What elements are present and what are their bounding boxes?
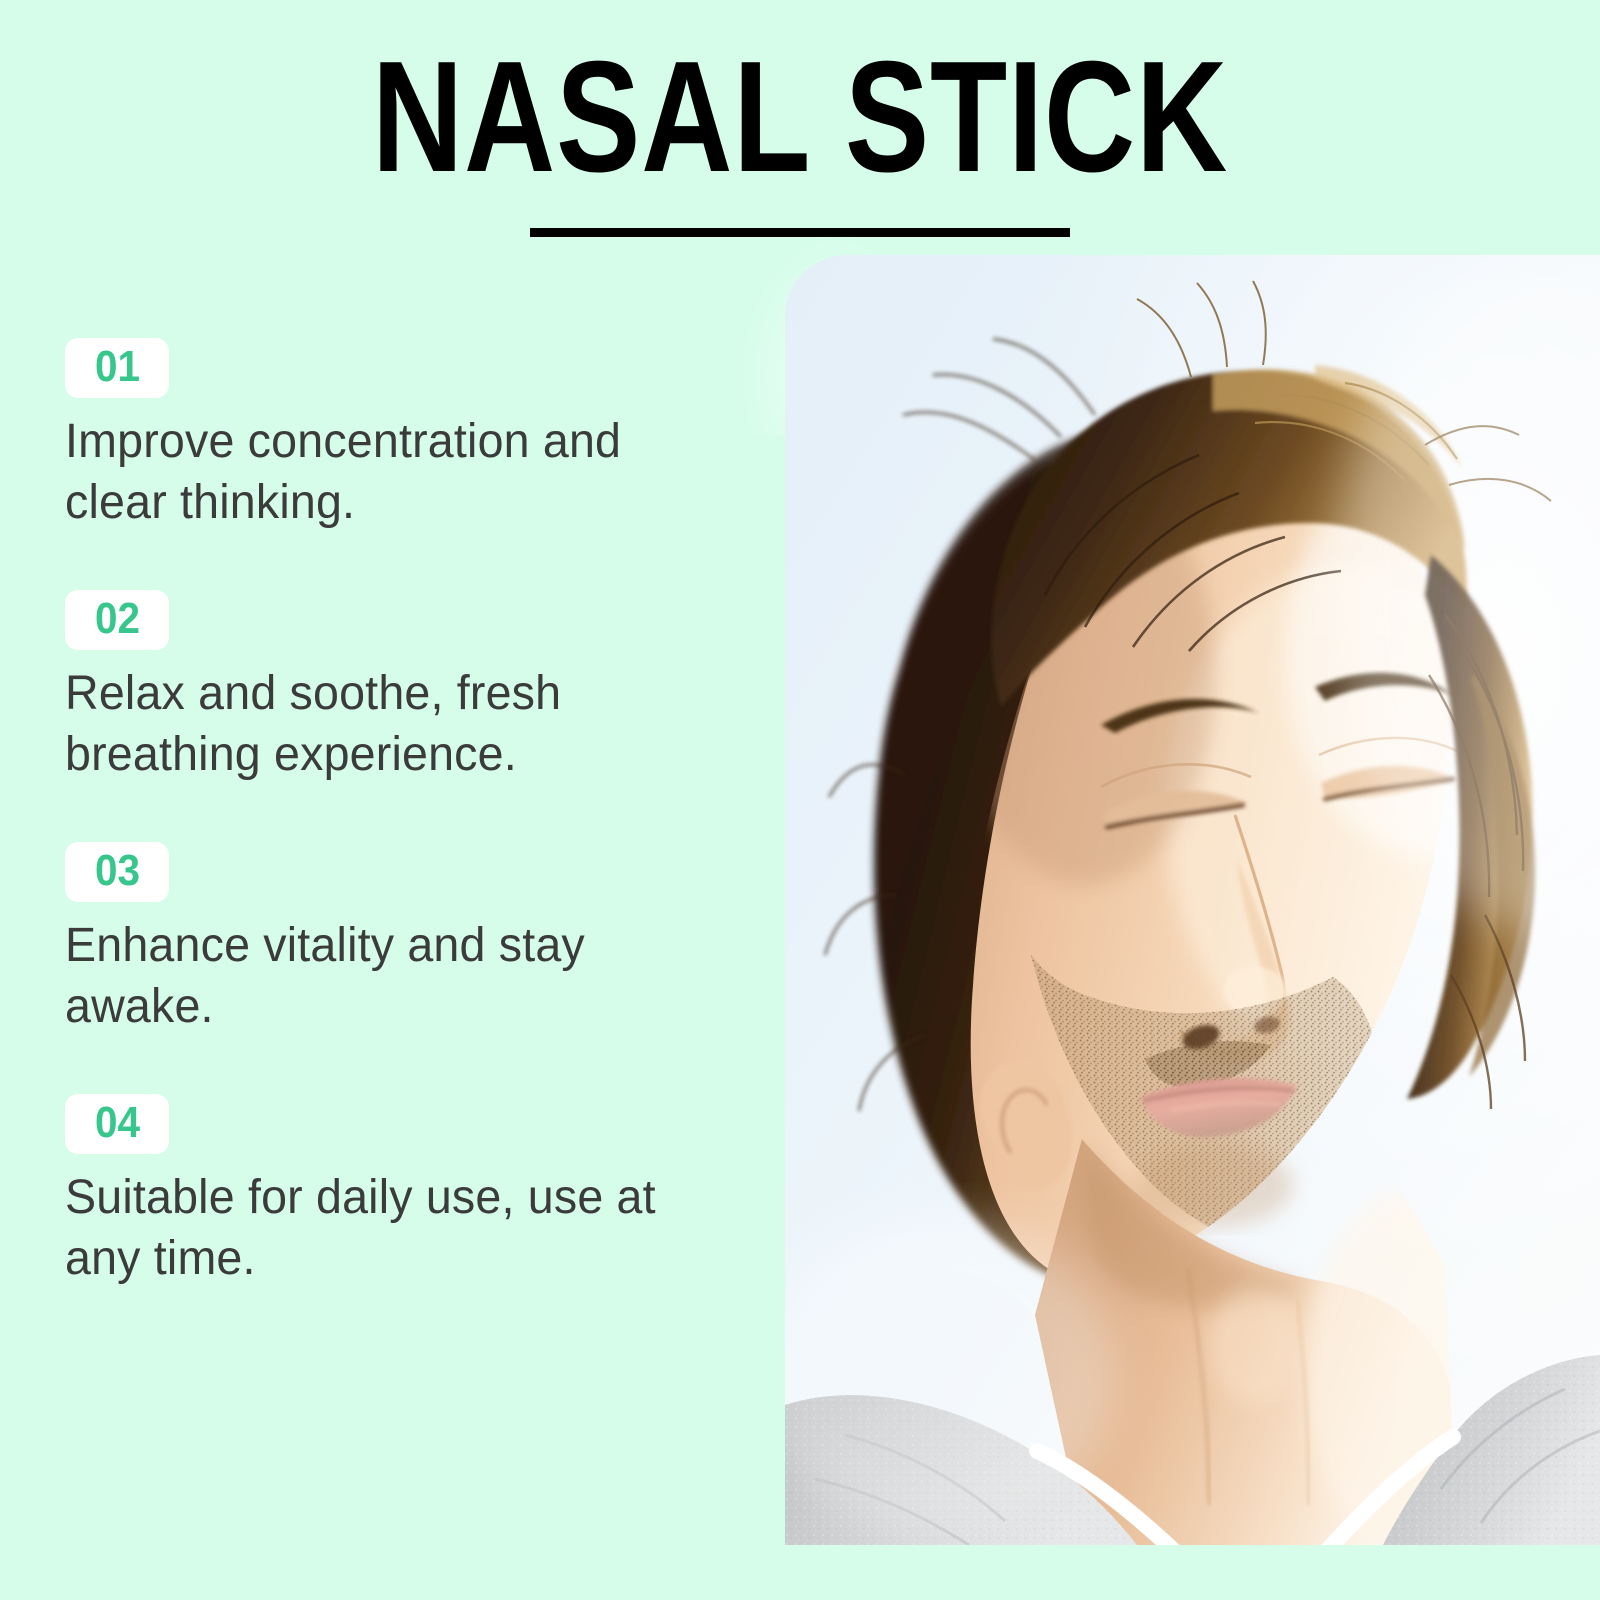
title-block: NASAL STICK bbox=[0, 38, 1600, 237]
feature-description: Enhance vitality and stay awake. bbox=[65, 916, 671, 1038]
feature-number: 01 bbox=[94, 345, 139, 389]
list-item: 01 Improve concentration and clear think… bbox=[65, 338, 705, 534]
feature-list: 01 Improve concentration and clear think… bbox=[65, 338, 705, 1290]
feature-number: 02 bbox=[94, 597, 139, 641]
status-badge: 02 bbox=[65, 590, 169, 650]
product-poster: NASAL STICK 01 Improve concentration and… bbox=[0, 0, 1600, 1600]
photo-illustration bbox=[785, 255, 1600, 1545]
status-badge: 03 bbox=[65, 842, 169, 902]
title-underline bbox=[530, 228, 1070, 237]
feature-number: 03 bbox=[94, 849, 139, 893]
feature-description: Suitable for daily use, use at any time. bbox=[65, 1168, 671, 1290]
list-item: 03 Enhance vitality and stay awake. bbox=[65, 842, 705, 1038]
page-title: NASAL STICK bbox=[160, 38, 1440, 196]
feature-number: 04 bbox=[94, 1101, 139, 1145]
product-photo bbox=[785, 255, 1600, 1545]
feature-description: Relax and soothe, fresh breathing experi… bbox=[65, 664, 671, 786]
feature-description: Improve concentration and clear thinking… bbox=[65, 412, 671, 534]
list-item: 04 Suitable for daily use, use at any ti… bbox=[65, 1094, 705, 1290]
list-item: 02 Relax and soothe, fresh breathing exp… bbox=[65, 590, 705, 786]
status-badge: 04 bbox=[65, 1094, 169, 1154]
status-badge: 01 bbox=[65, 338, 169, 398]
